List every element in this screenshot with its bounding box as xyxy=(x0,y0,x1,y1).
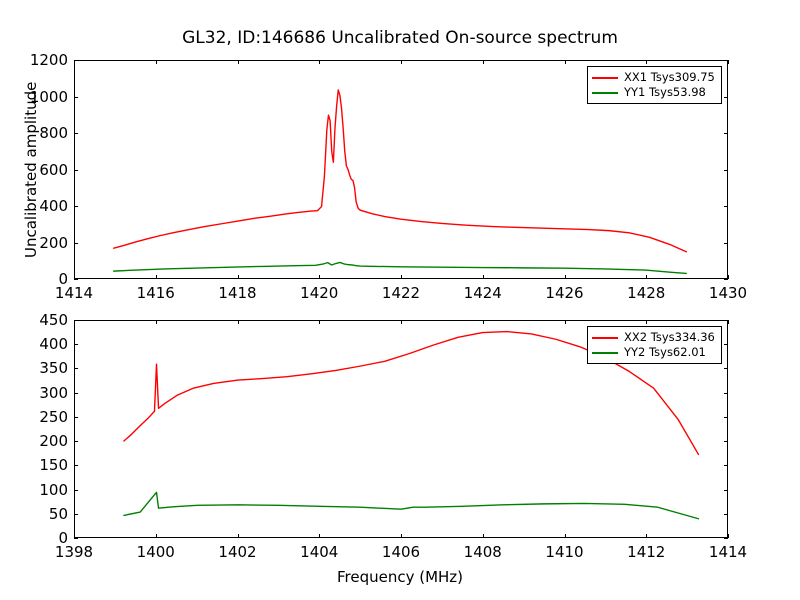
y-tick-mark xyxy=(724,465,728,466)
y-tick-mark xyxy=(74,170,78,171)
legend-label: XX1 Tsys309.75 xyxy=(624,70,715,85)
x-tick-label: 1410 xyxy=(545,543,583,561)
x-tick-mark xyxy=(646,275,647,279)
x-tick-mark xyxy=(483,320,484,324)
legend-entry: YY1 Tsys53.98 xyxy=(592,85,715,100)
y-tick-mark xyxy=(724,97,728,98)
y-tick-label: 200 xyxy=(18,432,68,450)
x-tick-mark xyxy=(646,534,647,538)
x-tick-label: 1400 xyxy=(137,543,175,561)
bottom-plot-legend: XX2 Tsys334.36YY2 Tsys62.01 xyxy=(587,326,722,364)
y-tick-mark xyxy=(724,490,728,491)
y-tick-mark xyxy=(74,243,78,244)
top-plot-legend: XX1 Tsys309.75YY1 Tsys53.98 xyxy=(587,66,722,104)
x-tick-label: 1418 xyxy=(218,284,256,302)
x-tick-mark xyxy=(565,275,566,279)
y-tick-mark xyxy=(74,441,78,442)
x-tick-mark xyxy=(483,60,484,64)
y-tick-label: 1200 xyxy=(18,51,68,69)
x-tick-mark xyxy=(565,320,566,324)
x-tick-mark xyxy=(74,275,75,279)
legend-color-swatch xyxy=(592,77,618,79)
x-tick-mark xyxy=(156,534,157,538)
y-tick-mark xyxy=(74,490,78,491)
y-tick-label: 50 xyxy=(18,505,68,523)
legend-color-swatch xyxy=(592,352,618,354)
x-tick-label: 1414 xyxy=(55,284,93,302)
y-tick-mark xyxy=(74,344,78,345)
x-tick-mark xyxy=(319,275,320,279)
y-tick-mark xyxy=(724,368,728,369)
y-tick-mark xyxy=(724,417,728,418)
y-tick-mark xyxy=(74,465,78,466)
y-tick-mark xyxy=(724,441,728,442)
page-title: GL32, ID:146686 Uncalibrated On-source s… xyxy=(0,28,800,48)
x-tick-label: 1398 xyxy=(55,543,93,561)
y-tick-mark xyxy=(724,206,728,207)
x-tick-label: 1426 xyxy=(545,284,583,302)
x-tick-label: 1402 xyxy=(218,543,256,561)
y-tick-mark xyxy=(74,514,78,515)
x-tick-mark xyxy=(319,60,320,64)
series-line-1 xyxy=(114,262,687,273)
x-tick-label: 1422 xyxy=(382,284,420,302)
y-tick-mark xyxy=(74,393,78,394)
legend-label: YY2 Tsys62.01 xyxy=(624,345,706,360)
x-tick-mark xyxy=(319,534,320,538)
y-tick-mark xyxy=(724,344,728,345)
x-tick-label: 1430 xyxy=(709,284,747,302)
x-tick-label: 1408 xyxy=(464,543,502,561)
legend-entry: XX2 Tsys334.36 xyxy=(592,330,715,345)
x-tick-mark xyxy=(728,275,729,279)
series-line-1 xyxy=(124,492,699,518)
legend-entry: YY2 Tsys62.01 xyxy=(592,345,715,360)
x-tick-mark xyxy=(238,275,239,279)
x-tick-mark xyxy=(238,320,239,324)
y-tick-label: 450 xyxy=(18,311,68,329)
x-tick-mark xyxy=(74,320,75,324)
y-tick-mark xyxy=(74,538,78,539)
y-tick-mark xyxy=(724,243,728,244)
x-tick-mark xyxy=(238,534,239,538)
x-tick-label: 1414 xyxy=(709,543,747,561)
y-tick-mark xyxy=(724,514,728,515)
x-tick-mark xyxy=(156,320,157,324)
x-tick-label: 1420 xyxy=(300,284,338,302)
x-tick-label: 1416 xyxy=(137,284,175,302)
x-tick-label: 1428 xyxy=(627,284,665,302)
legend-color-swatch xyxy=(592,92,618,94)
y-tick-mark xyxy=(724,133,728,134)
y-tick-label: 600 xyxy=(18,161,68,179)
y-tick-mark xyxy=(74,133,78,134)
y-tick-label: 400 xyxy=(18,197,68,215)
y-tick-mark xyxy=(724,170,728,171)
legend-label: XX2 Tsys334.36 xyxy=(624,330,715,345)
x-tick-mark xyxy=(565,534,566,538)
x-tick-mark xyxy=(646,320,647,324)
y-tick-mark xyxy=(74,206,78,207)
y-tick-mark xyxy=(724,279,728,280)
y-tick-mark xyxy=(74,417,78,418)
x-tick-mark xyxy=(728,320,729,324)
y-tick-label: 200 xyxy=(18,234,68,252)
x-tick-mark xyxy=(74,60,75,64)
spectrum-figure: GL32, ID:146686 Uncalibrated On-source s… xyxy=(0,0,800,600)
x-tick-label: 1404 xyxy=(300,543,338,561)
y-tick-label: 100 xyxy=(18,481,68,499)
x-tick-mark xyxy=(238,60,239,64)
y-tick-label: 350 xyxy=(18,359,68,377)
legend-entry: XX1 Tsys309.75 xyxy=(592,70,715,85)
legend-color-swatch xyxy=(592,337,618,339)
x-tick-mark xyxy=(401,275,402,279)
y-tick-mark xyxy=(74,368,78,369)
series-line-0 xyxy=(114,90,687,252)
y-tick-label: 800 xyxy=(18,124,68,142)
x-tick-mark xyxy=(74,534,75,538)
y-tick-label: 300 xyxy=(18,384,68,402)
x-tick-mark xyxy=(483,275,484,279)
x-tick-mark xyxy=(728,534,729,538)
x-tick-mark xyxy=(565,60,566,64)
x-tick-mark xyxy=(646,60,647,64)
x-tick-mark xyxy=(483,534,484,538)
y-tick-mark xyxy=(74,279,78,280)
x-tick-label: 1412 xyxy=(627,543,665,561)
bottom-x-axis-label: Frequency (MHz) xyxy=(0,568,800,586)
x-tick-mark xyxy=(401,60,402,64)
x-tick-mark xyxy=(728,60,729,64)
y-tick-label: 400 xyxy=(18,335,68,353)
y-tick-mark xyxy=(724,393,728,394)
legend-label: YY1 Tsys53.98 xyxy=(624,85,706,100)
x-tick-mark xyxy=(401,320,402,324)
y-tick-label: 1000 xyxy=(18,88,68,106)
x-tick-mark xyxy=(319,320,320,324)
y-tick-mark xyxy=(74,97,78,98)
y-tick-mark xyxy=(724,538,728,539)
x-tick-label: 1424 xyxy=(464,284,502,302)
x-tick-label: 1406 xyxy=(382,543,420,561)
y-tick-label: 250 xyxy=(18,408,68,426)
y-tick-label: 150 xyxy=(18,456,68,474)
x-tick-mark xyxy=(156,275,157,279)
x-tick-mark xyxy=(401,534,402,538)
x-tick-mark xyxy=(156,60,157,64)
